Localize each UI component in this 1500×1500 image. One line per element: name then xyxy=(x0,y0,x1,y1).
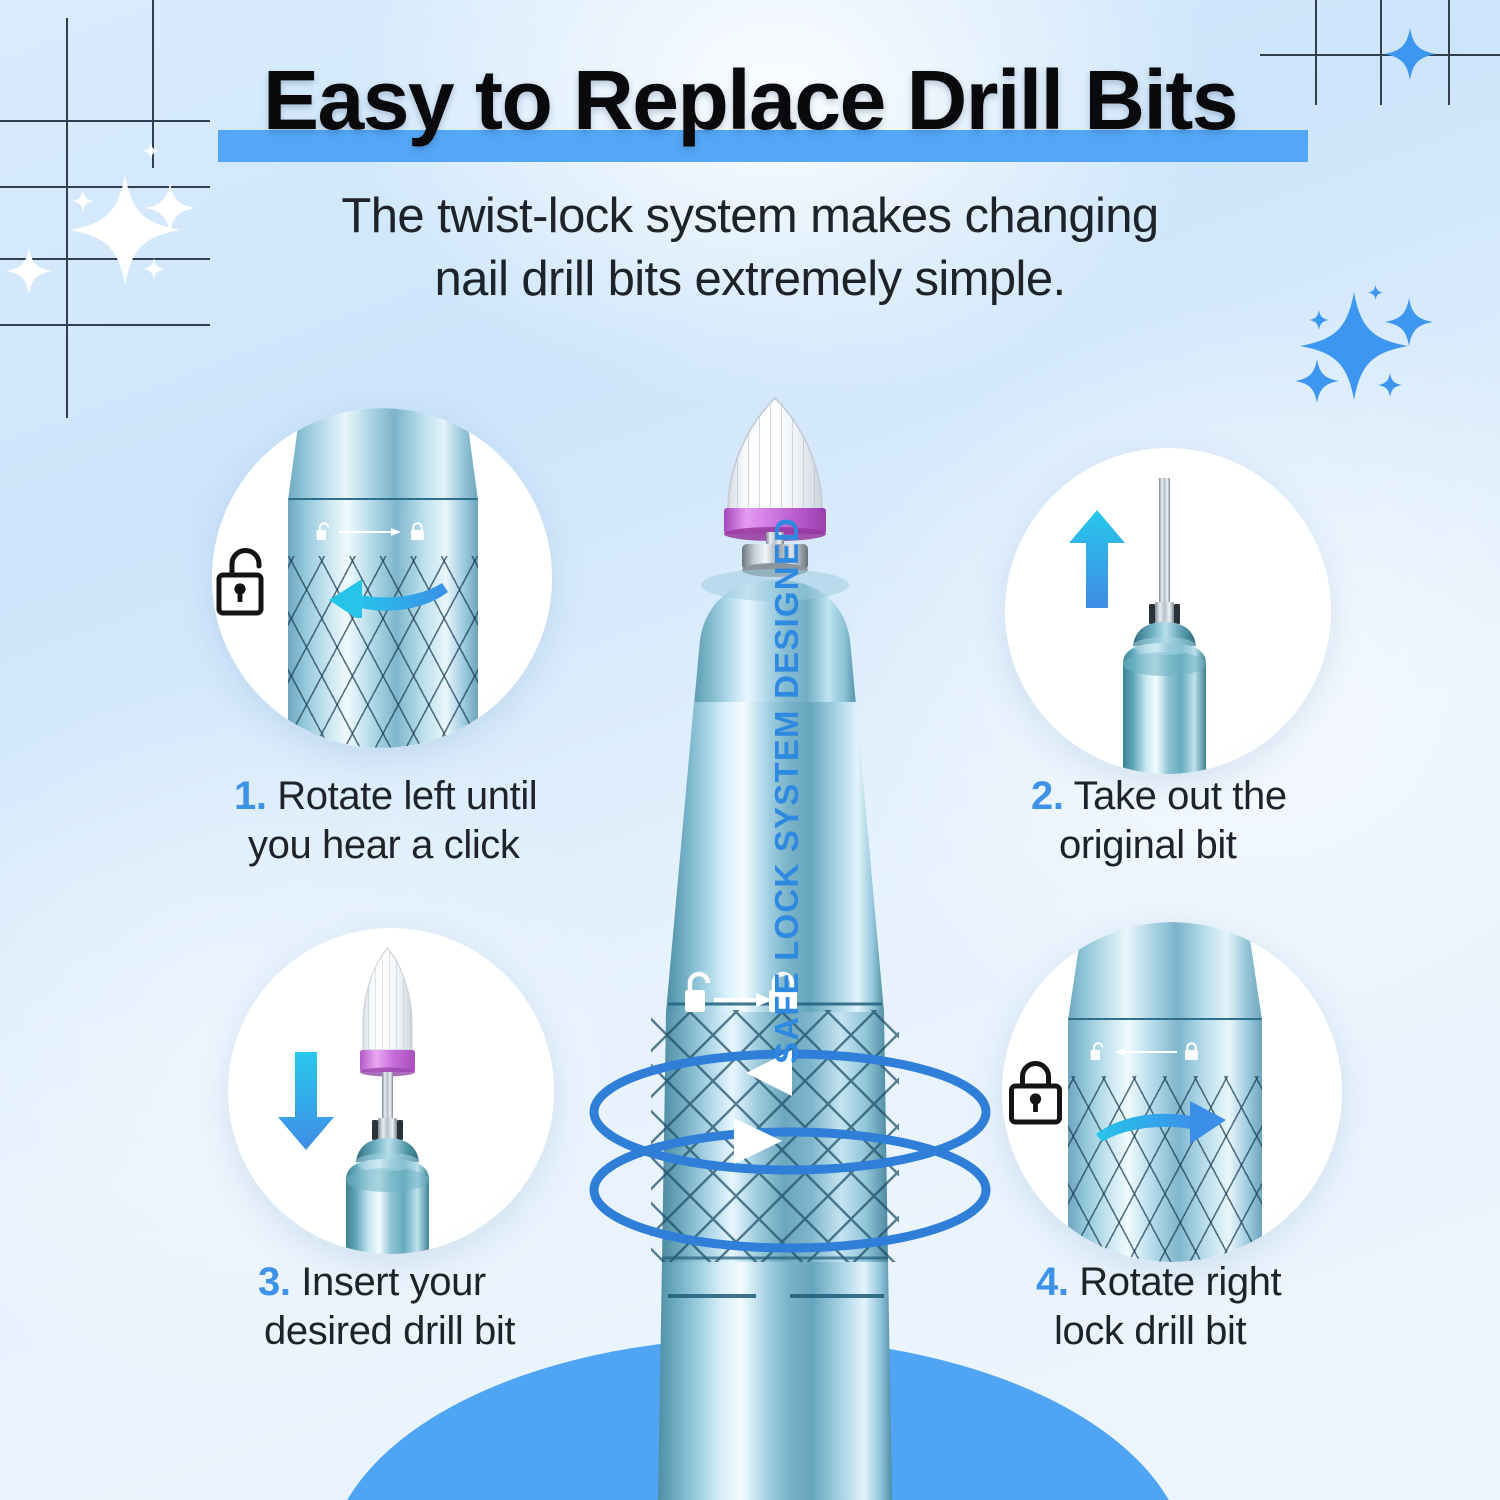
arrow-down-icon xyxy=(278,1052,334,1150)
lock-glyph-icon xyxy=(409,522,426,541)
grid-line xyxy=(0,324,210,326)
step-3-number: 3. xyxy=(258,1260,291,1304)
vertical-badge-text: SAFE LOCK SYSTEM DESIGNED xyxy=(768,644,806,1064)
step-1-line-2: you hear a click xyxy=(234,821,537,870)
step-3-illustration xyxy=(228,928,554,1254)
step-4-number: 4. xyxy=(1036,1260,1069,1304)
step-4-line-1: Rotate right xyxy=(1079,1260,1281,1304)
step-4-caption: 4. Rotate right lock drill bit xyxy=(1036,1258,1281,1356)
step-1-caption: 1. Rotate left until you hear a click xyxy=(234,772,537,870)
arrow-up-icon xyxy=(1069,510,1125,608)
arrow-left-glyph-icon xyxy=(1113,1047,1177,1057)
page-subtitle: The twist-lock system makes changing nai… xyxy=(0,185,1500,310)
arrow-right-glyph-icon xyxy=(339,527,403,537)
lock-indicator-stamp xyxy=(316,522,426,541)
step-2-line-1: Take out the xyxy=(1074,774,1287,818)
lock-glyph-icon xyxy=(1183,1042,1200,1061)
step-3-line-1: Insert your xyxy=(301,1260,486,1304)
step-1-number: 1. xyxy=(234,774,267,818)
curved-arrow-right-icon xyxy=(1092,1100,1240,1144)
step-2-line-2: original bit xyxy=(1031,821,1287,870)
sparkle-blue-tiny-icon xyxy=(1309,310,1329,330)
unlock-glyph-icon xyxy=(316,522,333,541)
main-drill-bit xyxy=(728,398,822,522)
lock-indicator-stamp xyxy=(1090,1042,1200,1061)
step-3-caption: 3. Insert your desired drill bit xyxy=(258,1258,515,1356)
lock-icon xyxy=(1008,1058,1068,1126)
sparkle-white-tiny2-icon xyxy=(143,143,159,159)
sparkle-blue-small-icon xyxy=(1295,359,1339,403)
step-2-caption: 2. Take out the original bit xyxy=(1031,772,1287,870)
sparkle-blue-tiny3-icon xyxy=(1378,373,1402,397)
rotation-ring-lower xyxy=(594,1132,986,1248)
subtitle-line-1: The twist-lock system makes changing xyxy=(0,185,1500,248)
rotation-arrowhead-right xyxy=(734,1118,782,1164)
unlock-icon xyxy=(215,545,279,619)
step-4-line-2: lock drill bit xyxy=(1036,1307,1281,1356)
unlock-glyph-icon xyxy=(1090,1042,1107,1061)
step-1-line-1: Rotate left until xyxy=(277,774,537,818)
bottom-blue-dome xyxy=(328,1338,1188,1500)
rotation-indicator xyxy=(580,1040,1000,1270)
knurled-barrel xyxy=(1068,922,1262,1262)
curved-arrow-left-icon xyxy=(316,576,452,618)
step-2-illustration xyxy=(1005,448,1331,774)
step-2-number: 2. xyxy=(1031,774,1064,818)
grid-line xyxy=(1260,54,1500,56)
subtitle-line-2: nail drill bits extremely simple. xyxy=(0,248,1500,311)
page-title: Easy to Replace Drill Bits xyxy=(0,58,1500,142)
step-3-line-2: desired drill bit xyxy=(258,1307,515,1356)
infographic-canvas: Easy to Replace Drill Bits The twist-loc… xyxy=(0,0,1500,1500)
drill-bit-with-collet xyxy=(312,942,472,1254)
